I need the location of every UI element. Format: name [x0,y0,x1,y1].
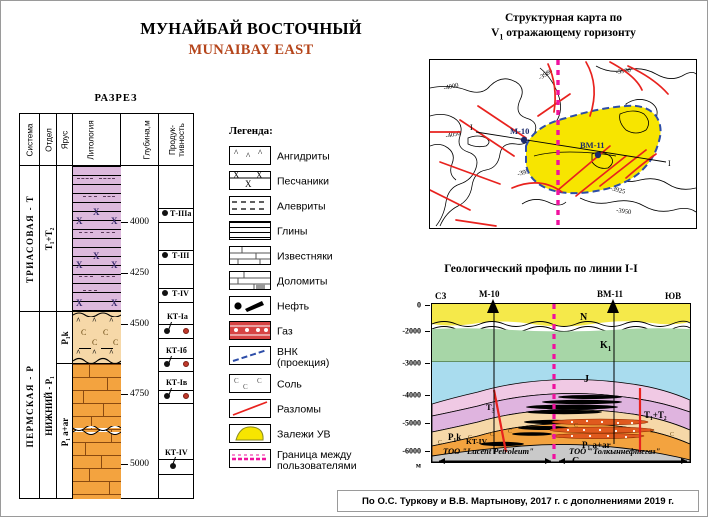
profile-layer-label-t1t2: T₁+Т₂ [644,410,667,420]
profile-depth--3000: -3000 [387,359,421,368]
prod-separator [159,324,194,325]
legend-label-owc-line2: (проекция) [277,357,329,369]
header-sistema: Система [20,114,40,166]
profile-layer-label-j: J [584,374,589,385]
unconformity-icon [73,426,121,436]
clay-swatch [229,221,271,240]
profile-layer-label-t3: T3 [486,402,495,415]
header-glubina-label: Глубина,м [142,120,151,159]
legend-label-user-boundary: Граница между пользователями [277,450,357,472]
depth-axis: 4000 4250 4500 4750 5000 [121,166,159,499]
oil-marker [162,290,168,296]
well-marker-vm11[interactable] [595,152,601,158]
siltstone-swatch [229,196,271,215]
profile-tick [425,363,430,364]
depth-label-4250: 4250 [130,268,149,278]
oil-marker [164,328,170,334]
depth-label-4000: 4000 [130,217,149,227]
oil-icon [230,297,270,314]
header-prod-line2: тивность [177,123,186,157]
prod-label-t3: Т-III [172,251,189,260]
prod-separator [159,302,194,303]
salt-swatch: C C C [229,374,271,393]
dept-t1t2-label: Т₁+Т₂ [44,227,54,250]
wavy-bottom-icon [73,356,121,363]
prod-label-t3a: Т-IIIa [170,209,191,218]
lithology-triassic: X X X X X X X X [73,166,121,312]
oil-marker [162,210,168,216]
legend-label-salt: Соль [277,379,302,390]
deposit-swatch [229,424,271,443]
k1-sub: 1 [608,345,612,353]
dept-nizhniy-p1-label: НИЖНИЙ - Р₁ [44,376,54,436]
profile-well-label-m10: М-10 [479,289,500,299]
legend-item-deposit: Залежи УВ [229,422,369,447]
svg-text:X: X [256,172,263,180]
profile-tick [425,423,430,424]
legend-item-dolomite: Доломиты [229,269,369,294]
legend-label-fault: Разломы [277,404,321,415]
svg-text:C: C [438,440,442,446]
profile-tick [425,451,430,452]
header-sistema-label: Система [26,124,35,157]
svg-text:C: C [257,377,262,385]
oil-marker [170,463,176,469]
svg-text:C: C [490,432,494,438]
stage-p1k-label: P₁k [60,331,70,344]
profile-tick [425,395,430,396]
t3-sub: 3 [492,409,495,415]
sandstone-icon: X X X [230,172,270,189]
header-otdel-label: Отдел [44,128,53,152]
svg-text:X: X [233,172,240,180]
stage-empty-triassic [57,166,73,312]
system-permian: ПЕРМСКАЯ - Р [20,312,40,499]
legend-title: Легенда: [229,125,369,137]
page-title-en: MUNAIBAY EAST [101,42,401,59]
header-litologiya: Литология [73,114,121,166]
profile-tick [425,331,430,332]
siltstone-icon [230,197,270,214]
prod-separator [159,338,194,339]
depth-tick [121,394,128,395]
contour-label--4000: -4000 [443,82,459,92]
svg-text:X: X [245,179,252,189]
dolomite-icon [230,272,270,289]
depth-label-5000: 5000 [130,459,149,469]
profile-depth--4000: -4000 [387,391,421,400]
svg-text:C: C [574,423,578,429]
legend-panel: Легенда: ^ ^ ^ Ангидриты X X X Песча [229,125,369,475]
prod-label-kt1a: КТ-Ia [167,312,188,321]
prod-separator [159,459,194,460]
user-boundary-icon [230,450,270,467]
profile-layer-label-n: N [580,312,587,323]
operator-label-tolkyn: ТОО "Толкыннефтегаз" [569,447,660,456]
section-line-label-right: I [668,159,671,168]
legend-item-owc: ВНК (проекция) [229,344,369,372]
productivity-axis: Т-IIIa Т-III Т-IV КТ-Ia КТ-Iб КТ-Iв [159,166,194,499]
legend-item-salt: C C C Соль [229,372,369,397]
depth-tick [121,464,128,465]
svg-text:C: C [508,429,512,435]
depth-tick [121,324,128,325]
profile-title: Геологический профиль по линии I-I [381,263,701,275]
svg-text:C: C [243,383,248,391]
contour-label--3950b: -3950 [616,207,632,216]
section-column-title: РАЗРЕЗ [61,93,171,104]
dolomite-swatch [229,271,271,290]
section-line-label-left: I [470,123,473,132]
gas-marker [183,393,189,399]
prod-separator [159,371,194,372]
svg-text:^: ^ [246,151,251,161]
legend-item-anhydrite: ^ ^ ^ Ангидриты [229,144,369,169]
system-triassic: ТРИАСОВАЯ - Т [20,166,40,312]
geological-profile: 0 -2000 -3000 -4000 -5000 -6000 м СЗ ЮВ … [383,289,697,481]
legend-item-gas: Газ [229,319,369,344]
header-litologiya-label: Литология [87,120,96,159]
structural-map[interactable]: -4000 -4050 -3980 -3900 -3950 -3925 -395… [429,59,697,229]
lithology-carbonates [73,364,121,499]
limestone-icon [230,247,270,264]
fault-icon [230,400,270,417]
header-glubina: Глубина,м [121,114,159,166]
legend-label-clay: Глины [277,226,307,237]
profile-layer-label-p1k: P₁k [448,432,461,442]
svg-text:^: ^ [234,148,239,158]
profile-reservoir-label-kt4: KT-IV [466,437,487,446]
profile-depth-unit: м [387,461,421,470]
legend-item-siltstone: Алевриты [229,194,369,219]
stratigraphic-column: Система Отдел Ярус Литология Глубина,м П… [19,113,194,499]
legend-label-owc: ВНК (проекция) [277,347,329,369]
header-yarus: Ярус [57,114,73,166]
profile-layer-label-k1: K1 [600,340,611,353]
anhydrite-icon: ^ ^ ^ [230,147,270,164]
source-footer-text: По О.С. Туркову и В.В. Мартынову, 2017 г… [362,496,674,507]
profile-tick [425,305,430,306]
legend-item-clay: Глины [229,219,369,244]
oil-marker [164,393,170,399]
anhydrite-swatch: ^ ^ ^ [229,146,271,165]
depth-tick [121,273,128,274]
prod-separator [159,222,194,223]
stage-p1k: P₁k [57,312,73,364]
source-footer: По О.С. Туркову и В.В. Мартынову, 2017 г… [337,490,699,512]
depth-label-4750: 4750 [130,389,149,399]
oil-marker [162,252,168,258]
legend-label-sandstone: Песчаники [277,176,329,187]
dept-nizhniy-p1: НИЖНИЙ - Р₁ [40,312,57,499]
system-permian-label: ПЕРМСКАЯ - Р [25,364,35,447]
stage-p1aar-label: P₁ a+ar [60,417,70,446]
map-title-line2: отражающему горизонту [506,27,636,39]
depth-tick [121,222,128,223]
prod-separator [159,358,194,359]
k1-symbol: K [600,340,608,351]
legend-label-deposit: Залежи УВ [277,429,331,440]
salt-icon: C C C [230,375,270,392]
legend-item-sandstone: X X X Песчаники [229,169,369,194]
limestone-swatch [229,246,271,265]
depth-label-4500: 4500 [130,319,149,329]
prod-separator [159,474,194,475]
sandstone-swatch: X X X [229,171,271,190]
svg-text:C: C [650,429,654,435]
gas-marker [183,328,189,334]
page-title-ru: МУНАЙБАЙ ВОСТОЧНЫЙ [101,19,401,39]
header-yarus-label: Ярус [61,131,70,149]
prod-label-t4: Т-IV [172,289,189,298]
gas-marker [183,361,189,367]
profile-direction-se: ЮВ [665,291,681,301]
header-prod-line1: Продук- [168,125,177,155]
legend-label-limestone: Известняки [277,251,333,262]
map-title: Структурная карта по V1 отражающему гори… [421,11,706,44]
svg-text:C: C [670,432,674,438]
owc-swatch [229,346,271,365]
prod-separator [159,264,194,265]
profile-depth--6000: -6000 [387,447,421,456]
lithology-anhydrite-salt: ^ ^ ^ C C C C ^ ^ ^ [73,312,121,364]
owc-icon [230,347,270,364]
profile-depth--2000: -2000 [387,327,421,336]
profile-depth--5000: -5000 [387,419,421,428]
svg-text:^: ^ [258,148,263,158]
poster-root: МУНАЙБАЙ ВОСТОЧНЫЙ MUNAIBAY EAST РАЗРЕЗ … [0,0,708,517]
map-canvas: -4000 -4050 -3980 -3900 -3950 -3925 -395… [430,60,696,228]
well-label-m10: М-10 [510,126,529,136]
legend-item-limestone: Известняки [229,244,369,269]
legend-item-oil: Нефть [229,294,369,319]
user-boundary-swatch [229,449,271,468]
map-title-line1: Структурная карта по [505,12,622,24]
profile-layer-label-c: C [572,456,579,463]
profile-depth-0: 0 [387,301,421,310]
legend-label-siltstone: Алевриты [277,201,326,212]
legend-item-fault: Разломы [229,397,369,422]
oil-marker [164,361,170,367]
profile-well-label-vm11: ВМ-11 [597,289,623,299]
well-label-vm11: ВМ-11 [580,140,605,150]
profile-direction-nw: СЗ [435,291,446,301]
map-horizon-subscript: 1 [499,32,503,41]
legend-label-anhydrite: Ангидриты [277,151,330,162]
profile-canvas: CC CC CC CC N K1 J T3 [431,303,691,463]
well-marker-m10[interactable] [521,137,527,143]
prod-label-kt1b: КТ-Iб [166,346,187,355]
gas-swatch [229,321,271,340]
deposit-icon [230,425,270,442]
system-triassic-label: ТРИАСОВАЯ - Т [25,194,35,282]
header-produktivnost: Продук- тивность [159,114,194,166]
prod-separator [159,390,194,391]
legend-item-user-boundary: Граница между пользователями [229,447,369,475]
header-produktivnost-label: Продук- тивность [168,123,186,157]
dept-t1t2: Т₁+Т₂ [40,166,57,312]
fault-swatch [229,399,271,418]
oil-swatch [229,296,271,315]
stage-p1aar: P₁ a+ar [57,364,73,499]
operator-label-lucent: ТОО "Lucent Petroleum" [443,447,534,456]
legend-label-ub-line2: пользователями [277,460,357,472]
svg-text:C: C [234,377,239,385]
prod-separator [159,403,194,404]
prod-label-kt4: КТ-IV [165,448,188,457]
gas-icon [230,322,270,339]
legend-label-dolomite: Доломиты [277,276,327,287]
prod-label-kt1v: КТ-Iв [166,378,187,387]
legend-label-oil: Нефть [277,301,309,312]
header-otdel: Отдел [40,114,57,166]
legend-label-gas: Газ [277,326,293,337]
